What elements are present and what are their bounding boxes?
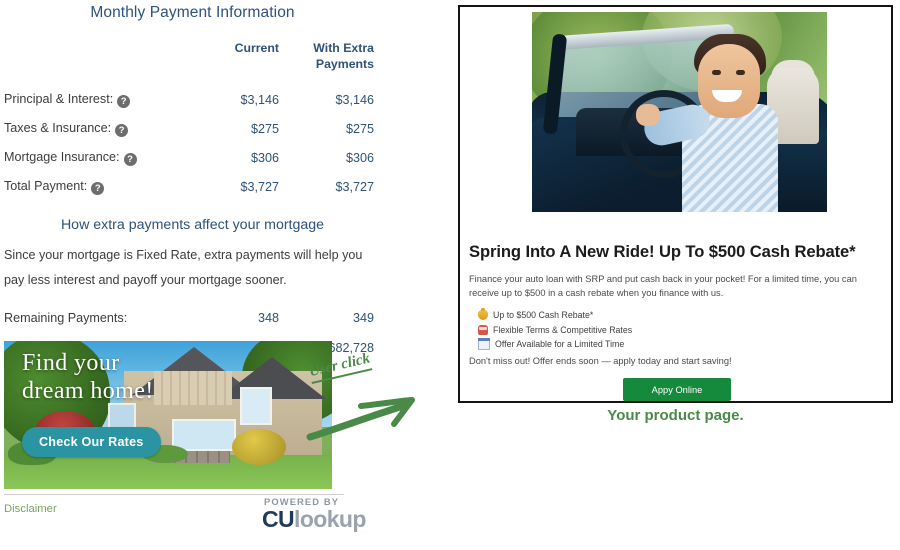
table-header-row-2: Payments (0, 56, 385, 85)
row-value-extra: $3,727 (289, 172, 385, 201)
dream-home-promo-banner[interactable]: Find your dream home! Check Our Rates (4, 341, 332, 489)
culookup-logo: POWERED BY CUlookup (262, 496, 374, 531)
disclaimer-link[interactable]: Disclaimer (4, 503, 57, 515)
mortgage-calculator-panel: Monthly Payment Information Current With… (0, 0, 385, 550)
row-value-current: $3,146 (194, 85, 289, 114)
row-label-cell: Principal & Interest:? (0, 85, 194, 114)
bullet-text: Flexible Terms & Competitive Rates (493, 323, 632, 338)
row-value-current: 348 (193, 303, 289, 333)
table-row: Remaining Payments: 348 349 (0, 303, 385, 333)
list-item: Flexible Terms & Competitive Rates (478, 323, 878, 338)
help-icon[interactable]: ? (117, 95, 130, 108)
row-value-extra: $306 (289, 143, 385, 172)
help-icon[interactable]: ? (115, 124, 128, 137)
extra-payments-heading: How extra payments affect your mortgage (0, 217, 385, 233)
monthly-payment-table: Current With Extra Payments Principal & … (0, 27, 385, 201)
row-label: Principal & Interest: (4, 92, 113, 106)
money-bag-icon (478, 310, 488, 320)
column-header-current: Current (194, 27, 289, 56)
column-header-extra-line2: Payments (289, 56, 385, 85)
row-label: Remaining Payments: (0, 303, 193, 333)
row-label-cell: Total Payment:? (0, 172, 194, 201)
culookup-lookup-text: lookup (294, 506, 366, 532)
driver-eye-shape (736, 70, 745, 75)
table-row: Taxes & Insurance:? $275 $275 (0, 114, 385, 143)
table-header-row: Current With Extra (0, 27, 385, 56)
promo-headline-line2: dream home! (22, 377, 202, 405)
calendar-icon (478, 338, 490, 350)
car-icon (478, 325, 488, 335)
culookup-cu-text: CU (262, 506, 294, 532)
row-value-current: $3,727 (194, 172, 289, 201)
ad-body-text: Finance your auto loan with SRP and put … (469, 273, 889, 300)
header-spacer (0, 27, 194, 56)
hero-photo (532, 12, 827, 212)
culookup-wordmark: CUlookup (262, 507, 374, 531)
row-value-extra: $275 (289, 114, 385, 143)
product-page-caption: Your product page. (458, 407, 893, 424)
house-window-decoration (172, 419, 236, 451)
driver-hand-shape (636, 104, 660, 126)
help-icon[interactable]: ? (91, 182, 104, 195)
header-spacer-3 (194, 56, 289, 85)
bullet-text: Up to $500 Cash Rebate* (493, 308, 593, 323)
driver-head-shape (698, 44, 760, 118)
row-value-extra: 349 (289, 303, 385, 333)
ad-bullet-list: Up to $500 Cash Rebate* Flexible Terms &… (478, 308, 878, 352)
product-ad-panel[interactable]: Spring Into A New Ride! Up To $500 Cash … (458, 5, 893, 403)
bullet-text: Offer Available for a Limited Time (495, 337, 624, 352)
table-row: Total Payment:? $3,727 $3,727 (0, 172, 385, 201)
house-window-decoration (240, 387, 272, 425)
list-item: Up to $500 Cash Rebate* (478, 308, 878, 323)
driver-eye-shape (712, 70, 721, 75)
row-label: Taxes & Insurance: (4, 121, 111, 135)
row-label: Mortgage Insurance: (4, 150, 120, 164)
table-row: Principal & Interest:? $3,146 $3,146 (0, 85, 385, 114)
ad-closing-text: Don't miss out! Offer ends soon — apply … (469, 356, 889, 366)
column-header-extra-line1: With Extra (289, 27, 385, 56)
screenshot-root: Monthly Payment Information Current With… (0, 0, 900, 550)
row-label-cell: Mortgage Insurance:? (0, 143, 194, 172)
row-label: Total Payment: (4, 179, 87, 193)
yellow-shrub-decoration (232, 429, 286, 465)
page-title: Monthly Payment Information (0, 0, 385, 22)
promo-headline-line1: Find your (22, 349, 202, 377)
footer-divider (4, 494, 344, 495)
list-item: Offer Available for a Limited Time (478, 337, 878, 352)
row-value-current: $306 (194, 143, 289, 172)
ad-headline: Spring Into A New Ride! Up To $500 Cash … (469, 242, 884, 262)
row-label-cell: Taxes & Insurance:? (0, 114, 194, 143)
hand-drawn-arrow-icon (306, 384, 456, 442)
help-icon[interactable]: ? (124, 153, 137, 166)
row-value-current: $275 (194, 114, 289, 143)
apply-online-button[interactable]: Appy Online (623, 378, 731, 401)
table-row: Mortgage Insurance:? $306 $306 (0, 143, 385, 172)
check-our-rates-button[interactable]: Check Our Rates (22, 427, 161, 457)
promo-headline: Find your dream home! (22, 349, 202, 405)
user-click-annotation: User click (306, 358, 456, 438)
extra-payments-description: Since your mortgage is Fixed Rate, extra… (0, 243, 376, 293)
header-spacer-2 (0, 56, 194, 85)
row-value-extra: $3,146 (289, 85, 385, 114)
